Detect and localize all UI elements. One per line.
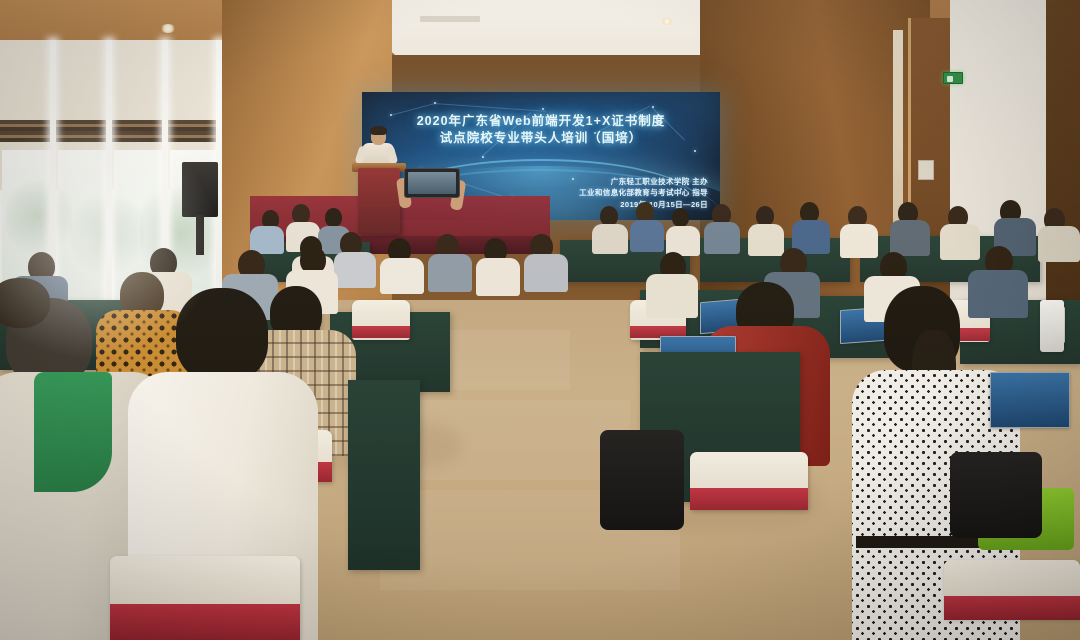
emergency-exit-sign bbox=[943, 72, 963, 84]
window-mullion bbox=[106, 40, 112, 340]
wall-switch-plate[interactable] bbox=[918, 160, 934, 180]
foliage-through-window bbox=[6, 172, 72, 262]
floor-standing-loudspeaker bbox=[182, 162, 218, 217]
thermos-flask bbox=[1040, 300, 1064, 352]
conference-hall-photo: 2020年广东省Web前端开发1+X证书制度 试点院校专业带头人培训（国培） 广… bbox=[0, 0, 1080, 640]
open-laptop bbox=[990, 372, 1070, 428]
screen-host-line: 广东轻工职业技术学院 主办 bbox=[611, 176, 708, 187]
recessed-downlight bbox=[660, 18, 674, 25]
wooden-podium bbox=[358, 168, 400, 234]
blind-trim bbox=[56, 120, 108, 142]
recessed-downlight bbox=[160, 24, 176, 33]
ceiling-vent bbox=[420, 16, 480, 22]
chair-sash bbox=[352, 326, 410, 338]
black-backpack bbox=[950, 452, 1042, 538]
loudspeaker-stand bbox=[196, 215, 204, 255]
black-backpack bbox=[600, 430, 684, 530]
smartphone-screen bbox=[408, 172, 456, 194]
screen-date-line: 2019年 10月15日—26日 bbox=[620, 199, 708, 210]
polo-logo-text bbox=[0, 420, 58, 454]
screen-title-line-2: 试点院校专业带头人培训（国培） bbox=[362, 127, 720, 146]
attendee-head bbox=[0, 278, 50, 328]
screen-guide-line: 工业和信息化部教育与考试中心 指导 bbox=[579, 187, 708, 198]
blind-trim bbox=[0, 120, 52, 142]
chair-sash bbox=[944, 596, 1080, 620]
blind-trim bbox=[112, 120, 164, 142]
chair-sash bbox=[690, 488, 808, 510]
table bbox=[348, 380, 420, 570]
chair-sash bbox=[110, 604, 300, 640]
blind-trim bbox=[168, 120, 220, 142]
